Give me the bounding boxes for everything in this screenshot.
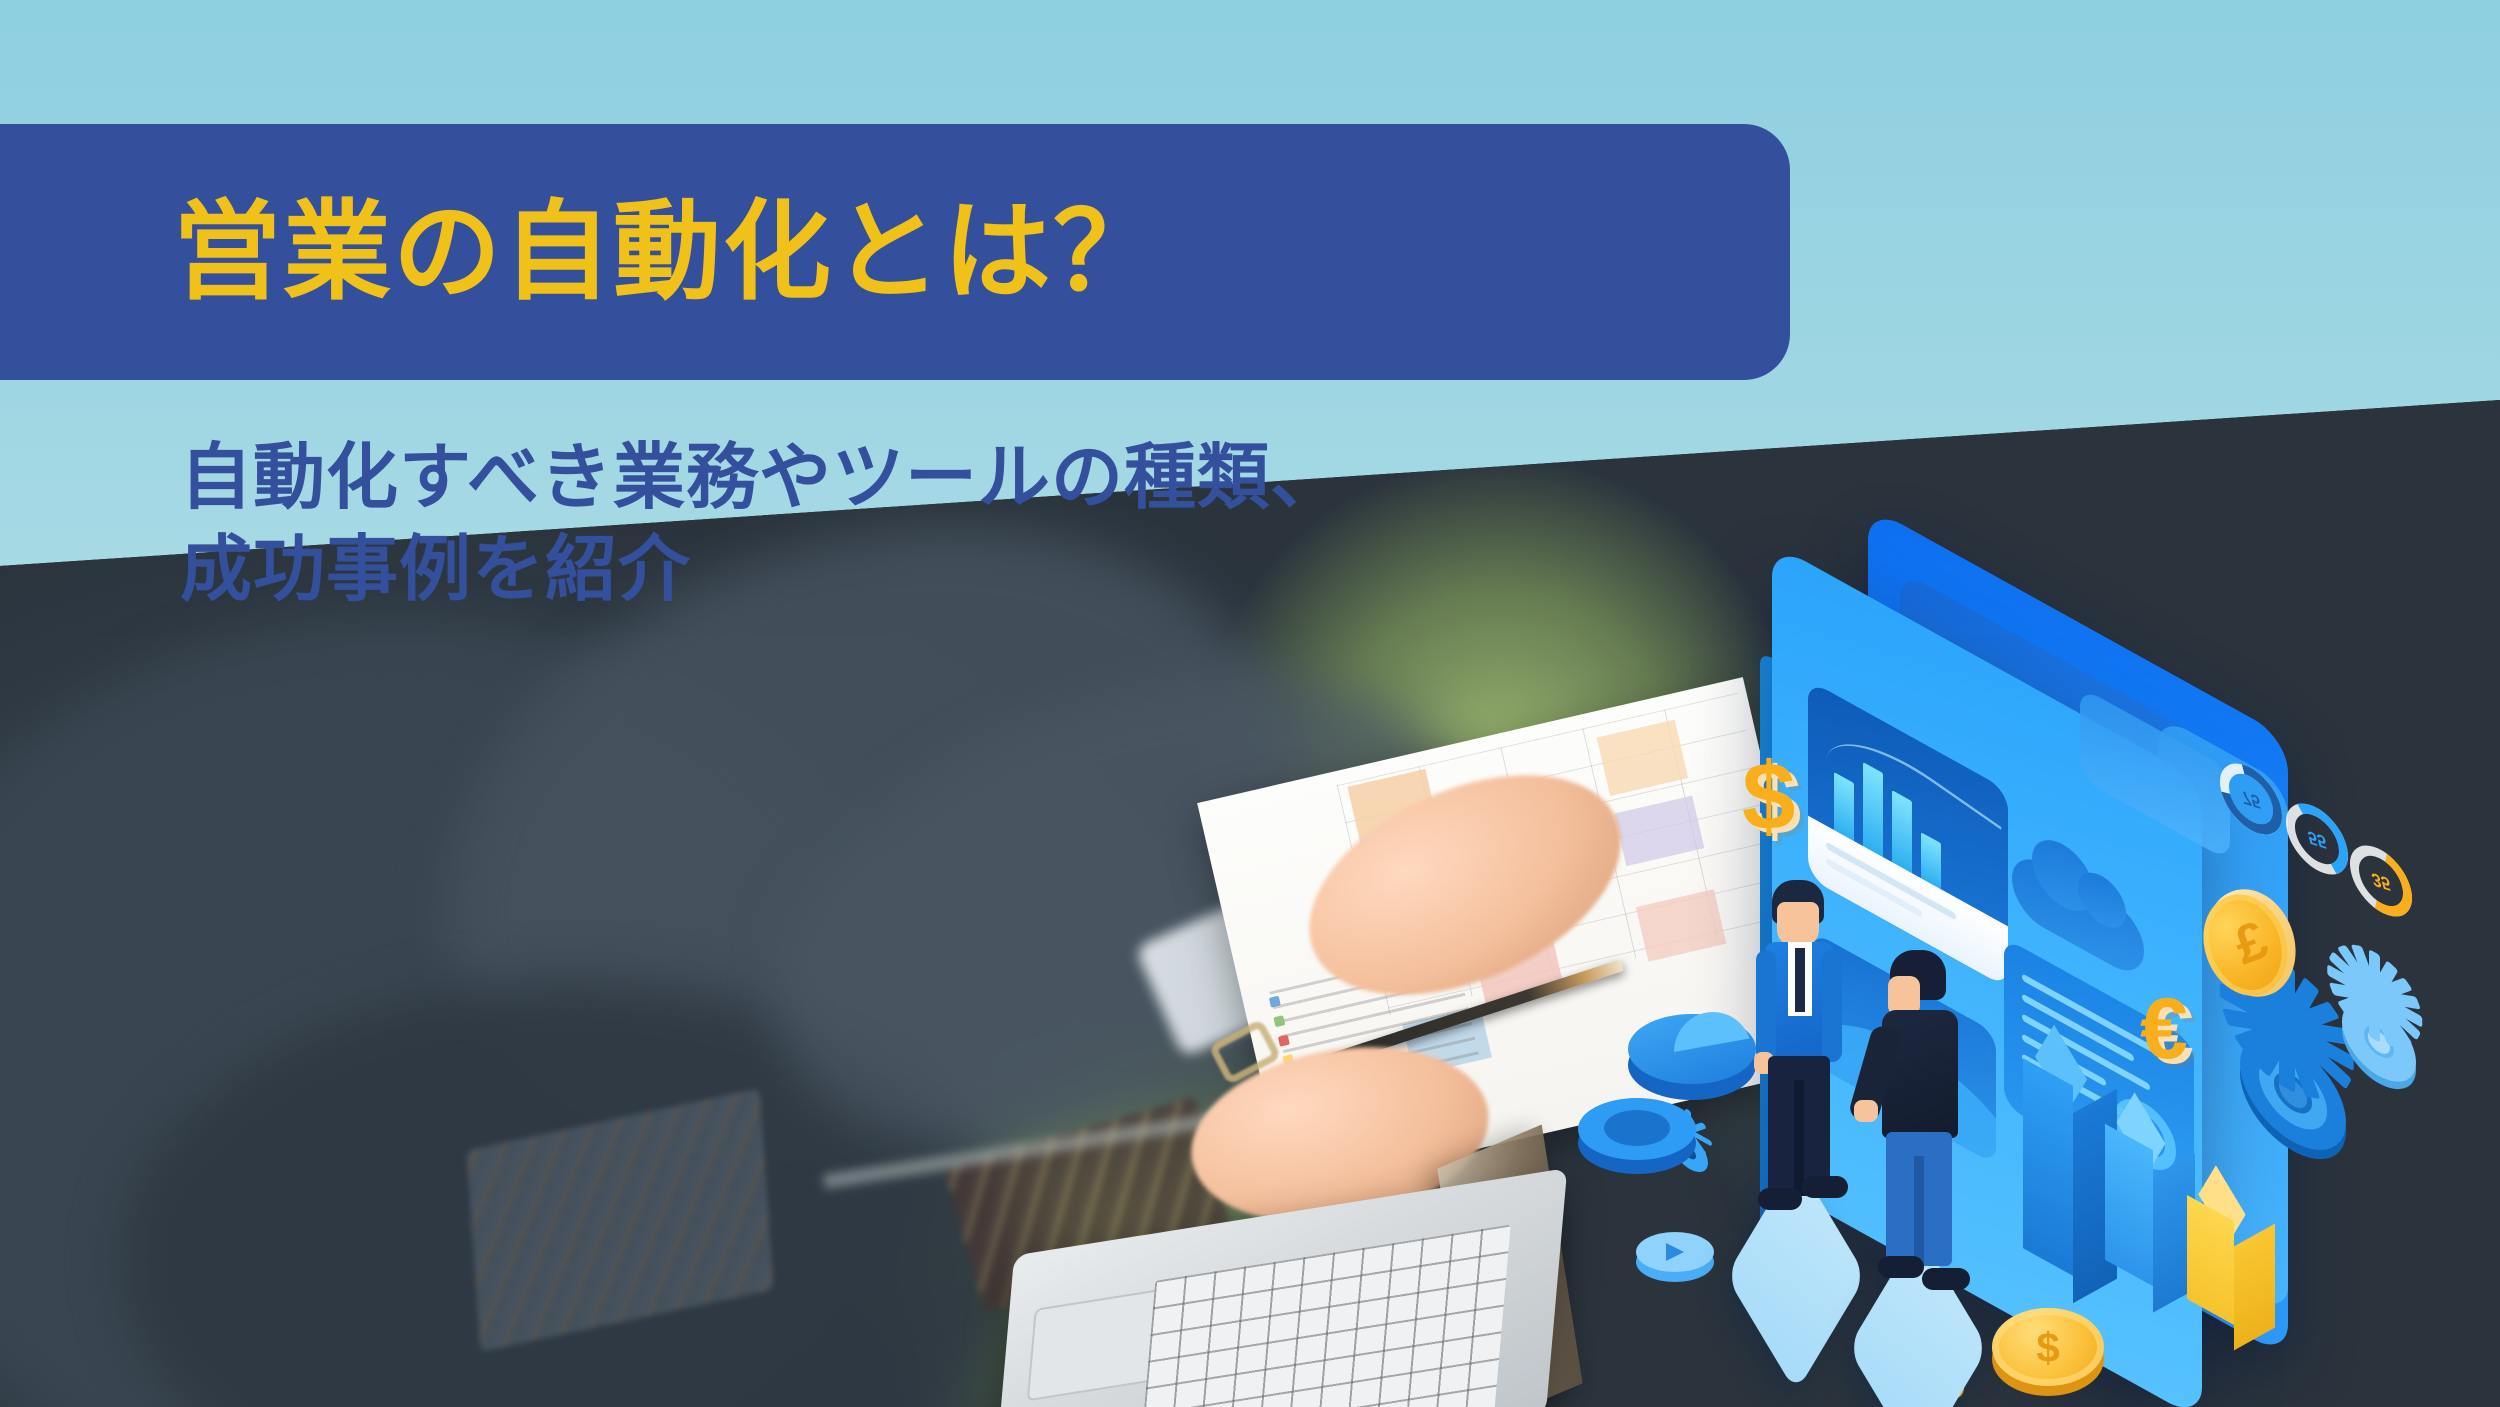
person-blue-suit — [1744, 880, 1854, 1250]
person-dark-sweater — [1866, 950, 1974, 1310]
gear-large-icon — [2240, 1040, 2346, 1146]
gauge-55: 55 — [2279, 796, 2354, 883]
automation-illustration: 75 55 35 $ € £ $ — [1600, 550, 2500, 1407]
dollar-coin-glyph: $ — [2036, 1324, 2059, 1372]
title-banner: 営業の自動化とは？ — [0, 124, 1790, 380]
hero-banner: 75 55 35 $ € £ $ — [0, 0, 2500, 1407]
gauge-35: 35 — [2343, 838, 2418, 925]
iso-play-button — [1636, 1228, 1714, 1288]
subtitle-line-2: 成功事例を紹介 — [180, 524, 1343, 616]
pound-coin-icon: £ — [2208, 888, 2294, 998]
iso-donut — [1578, 1090, 1696, 1186]
gear-small-icon — [2342, 1005, 2416, 1079]
euro-symbol-icon: € — [2140, 980, 2188, 1079]
page-subtitle: 自動化すべき業務やツールの種類、 成功事例を紹介 — [180, 432, 1343, 616]
subtitle-line-1: 自動化すべき業務やツールの種類、 — [180, 432, 1343, 524]
dollar-symbol-icon: $ — [1742, 742, 1795, 852]
page-title: 営業の自動化とは？ — [173, 198, 1163, 306]
dollar-coin-icon: $ — [1992, 1308, 2104, 1396]
